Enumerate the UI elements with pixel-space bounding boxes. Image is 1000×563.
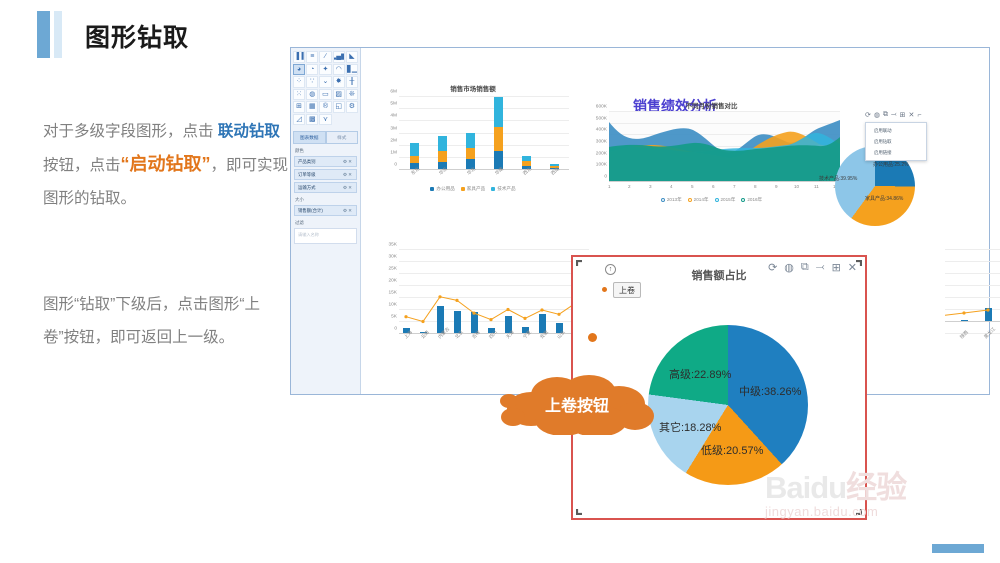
heatmap-icon[interactable]: ⁙ <box>293 89 305 101</box>
series-marker-dot-outer <box>588 333 597 342</box>
paragraph-rollup-instructions: 图形“钻取”下级后，点击图形“上卷”按钮，即可返回上一级。 <box>43 288 293 354</box>
bar-group <box>494 97 503 169</box>
gantt-chart-icon[interactable]: ▭ <box>319 89 331 101</box>
line-series-svg <box>945 250 1000 334</box>
area-chart-icon[interactable]: ◣ <box>346 51 358 63</box>
field-name: 销售额(合计) <box>298 208 323 214</box>
refresh-icon[interactable]: ⟳ <box>768 261 777 274</box>
legend-item: 2016年 <box>741 197 762 203</box>
pie-data-label: 中级:38.26% <box>739 383 801 399</box>
chart-category-share-pie[interactable]: ⟳ ◍ ⧉ ⤙ ⊞ ✕ ⌐ 启用联动 启用钻取 启用链接 办公用品:25.2% … <box>851 113 991 233</box>
field-sales-amount[interactable]: 销售额(合计) ⚙✕ <box>294 205 357 216</box>
column-chart-icon[interactable]: ▂▄▆ <box>333 51 345 63</box>
field-name: 产品类别 <box>298 159 316 165</box>
map-chart-icon[interactable]: ◍ <box>306 89 318 101</box>
plot-area: -50K 0 50K 100K 150K 200K 250K 300K 陕西 黑… <box>945 250 1000 334</box>
field-order-level[interactable]: 订单等级 ⚙✕ <box>294 169 357 180</box>
donut-chart-icon[interactable]: ◔ <box>306 64 318 76</box>
field-shipping-method[interactable]: 运输方式 ⚙✕ <box>294 182 357 193</box>
section-label-color: 颜色 <box>295 148 360 154</box>
text-segment-1: 对于多级字段图形，点击 <box>43 123 218 140</box>
radar-chart-icon[interactable]: ✦ <box>319 64 331 76</box>
chart-legend: 2013年 2014年 2015年 2016年 <box>579 197 844 203</box>
chart-config-panel: ▎▌▍ ≡ ∕ ▂▄▆ ◣ ◕ ◔ ✦ ◠ ▊▁ ⁘ ∵ ⌄ ✸ ╫ ⁙ ◍ ▭… <box>291 48 361 394</box>
chart-title: 不同月份销售对比 <box>579 100 844 110</box>
bar-group <box>410 143 419 169</box>
pie-data-label: 其它:18.28% <box>659 419 721 435</box>
gear-icon[interactable]: ⚙✕ <box>343 172 353 178</box>
gear-icon[interactable]: ⚙✕ <box>343 208 353 214</box>
tab-chart-data[interactable]: 图表数据 <box>293 131 326 144</box>
pivot-table-icon[interactable]: ▦ <box>306 101 318 113</box>
legend-item: 2014年 <box>688 197 709 203</box>
keyword-start-drill: “启动钻取” <box>121 154 211 174</box>
expand-icon[interactable]: ⧉ <box>801 261 809 274</box>
text-segment-2: 按钮，点击 <box>43 157 121 174</box>
title-accent-bar-light <box>54 11 62 58</box>
share-icon[interactable]: ⤙ <box>891 111 897 119</box>
legend-item: 2015年 <box>715 197 736 203</box>
list-bar-icon[interactable]: ≡ <box>306 51 318 63</box>
plot-area: 0 100K 200K 300K 400K 500K 600K 1 2 3 4 … <box>609 112 840 182</box>
popup-toolbar[interactable]: ⟳ ◍ ⧉ ⤙ ⊞ ✕ <box>768 261 857 274</box>
section-label-filter: 过滤 <box>295 220 360 226</box>
legend-item: 2013年 <box>661 197 682 203</box>
label-icon[interactable]: ◱ <box>333 101 345 113</box>
box-plot-icon[interactable]: ╫ <box>346 76 358 88</box>
pie-data-label: 家具产品:34.86% <box>865 195 903 202</box>
chart-title: 销售市场销售额 <box>373 83 573 93</box>
menu-item-enable-hyperlink[interactable]: 启用链接 <box>866 147 926 158</box>
plot-area: 0 5K 10K 15K 20K 25K 30K 35K <box>399 250 589 334</box>
table-icon[interactable]: ⊞ <box>293 101 305 113</box>
line-series-svg <box>399 250 589 334</box>
chart-monthly-compare-area[interactable]: 不同月份销售对比 0 100K 200K 300K 400K 500K 600K <box>579 100 844 205</box>
tab-style[interactable]: 样式 <box>326 131 359 144</box>
table-icon[interactable]: ⊞ <box>832 261 841 274</box>
pie-slices[interactable] <box>648 325 808 485</box>
field-name: 运输方式 <box>298 185 316 191</box>
bar-group <box>466 133 475 169</box>
footer-accent-bar <box>932 544 984 553</box>
section-label-size: 大小 <box>295 197 360 203</box>
tree-map-icon[interactable]: ▨ <box>333 89 345 101</box>
legend-label: 2016年 <box>747 197 762 203</box>
pie-data-label: 办公用品:25.2% <box>873 161 909 168</box>
chart-type-icon-grid: ▎▌▍ ≡ ∕ ▂▄▆ ◣ ◕ ◔ ✦ ◠ ▊▁ ⁘ ∵ ⌄ ✸ ╫ ⁙ ◍ ▭… <box>291 48 360 125</box>
keyword-linked-drill: 联动钻取 <box>218 123 280 140</box>
filter-icon[interactable]: ⋎ <box>319 114 331 126</box>
gauge-chart-icon[interactable]: ◠ <box>333 64 345 76</box>
legend-item: 办公用品 <box>430 186 454 192</box>
resize-handle-top-left[interactable] <box>576 260 582 266</box>
pie-data-label: 低级:20.57% <box>701 442 763 458</box>
field-product-category[interactable]: 产品类别 ⚙✕ <box>294 156 357 167</box>
close-icon[interactable]: ✕ <box>908 111 914 119</box>
kpi-icon[interactable]: ® <box>319 101 331 113</box>
polar-chart-icon[interactable]: ✸ <box>333 76 345 88</box>
share-icon[interactable]: ⤙ <box>816 261 825 274</box>
menu-item-enable-link[interactable]: 启用联动 <box>866 125 926 136</box>
close-icon[interactable]: ✕ <box>848 261 857 274</box>
drill-icon[interactable]: ◍ <box>874 111 880 119</box>
waterfall-icon[interactable]: ◿ <box>293 114 305 126</box>
sunburst-icon[interactable]: ❊ <box>346 89 358 101</box>
stacked-bar-icon[interactable]: ▊▁ <box>346 64 358 76</box>
rollup-button[interactable]: 上卷 <box>613 282 641 298</box>
resize-handle-bottom-right[interactable] <box>856 509 862 515</box>
word-cloud-icon[interactable]: ▩ <box>306 114 318 126</box>
plot-area: 0 1M 2M 3M 4M 5M 6M <box>399 97 569 170</box>
area-series-svg <box>609 112 840 182</box>
legend-label: 办公用品 <box>436 186 454 192</box>
resize-handle-icon[interactable]: ⌐ <box>917 112 921 119</box>
chart-context-menu[interactable]: 启用联动 启用钻取 启用链接 <box>865 122 927 161</box>
chart-combo-bar-line-right[interactable]: -50K 0 50K 100K 150K 200K 250K 300K 陕西 黑… <box>941 244 1000 364</box>
resize-handle-bottom-left[interactable] <box>576 509 582 515</box>
filter-input[interactable]: 请输入名称 <box>294 228 357 244</box>
bubble-chart-icon[interactable]: ∵ <box>306 76 318 88</box>
config-panel-tabs: 图表数据 样式 <box>293 131 358 144</box>
bar-chart-icon[interactable]: ▎▌▍ <box>293 51 305 63</box>
settings-icon[interactable]: ⚙ <box>346 101 358 113</box>
pie-data-label: 高级:22.89% <box>669 366 731 382</box>
legend-label: 技术产品 <box>497 186 515 192</box>
series-marker-dot <box>602 287 607 292</box>
title-accent-bar-dark <box>37 11 50 58</box>
line-chart-icon[interactable]: ∕ <box>319 51 331 63</box>
chart-toolbar[interactable]: ⟳ ◍ ⧉ ⤙ ⊞ ✕ ⌐ <box>865 111 921 119</box>
table-icon[interactable]: ⊞ <box>900 111 906 119</box>
scatter-chart-icon[interactable]: ⁘ <box>293 76 305 88</box>
callout-label: 上卷按钮 <box>497 373 657 435</box>
pie-chart-icon[interactable]: ◕ <box>293 64 305 76</box>
chart-market-sales-bar[interactable]: 销售市场销售额 0 1M 2M 3M 4M 5M 6M <box>373 83 573 193</box>
funnel-chart-icon[interactable]: ⌄ <box>319 76 331 88</box>
legend-label: 2014年 <box>694 197 709 203</box>
bar-group <box>438 136 447 169</box>
paragraph-drill-instructions: 对于多级字段图形，点击 联动钻取 按钮，点击“启动钻取”，即可实现图形的钻取。 <box>43 115 293 215</box>
field-name: 订单等级 <box>298 172 316 178</box>
legend-label: 2013年 <box>667 197 682 203</box>
callout-rollup-button: 上卷按钮 <box>497 373 657 435</box>
chart-legend: 办公用品 家具产品 技术产品 <box>373 186 573 192</box>
gear-icon[interactable]: ⚙✕ <box>343 159 353 165</box>
drill-icon[interactable]: ◍ <box>784 261 794 274</box>
pie-data-label: 技术产品:39.95% <box>819 175 857 182</box>
legend-item: 家具产品 <box>461 186 485 192</box>
legend-item: 技术产品 <box>491 186 515 192</box>
menu-item-enable-drill[interactable]: 启用钻取 <box>866 136 926 147</box>
chart-combo-bar-line-left[interactable]: 0 5K 10K 15K 20K 25K 30K 35K <box>373 244 593 364</box>
legend-label: 家具产品 <box>467 186 485 192</box>
refresh-icon[interactable]: ⟳ <box>865 111 871 119</box>
page-title: 图形钻取 <box>85 18 189 54</box>
expand-icon[interactable]: ⧉ <box>883 111 888 119</box>
gear-icon[interactable]: ⚙✕ <box>343 185 353 191</box>
legend-label: 2015年 <box>721 197 736 203</box>
